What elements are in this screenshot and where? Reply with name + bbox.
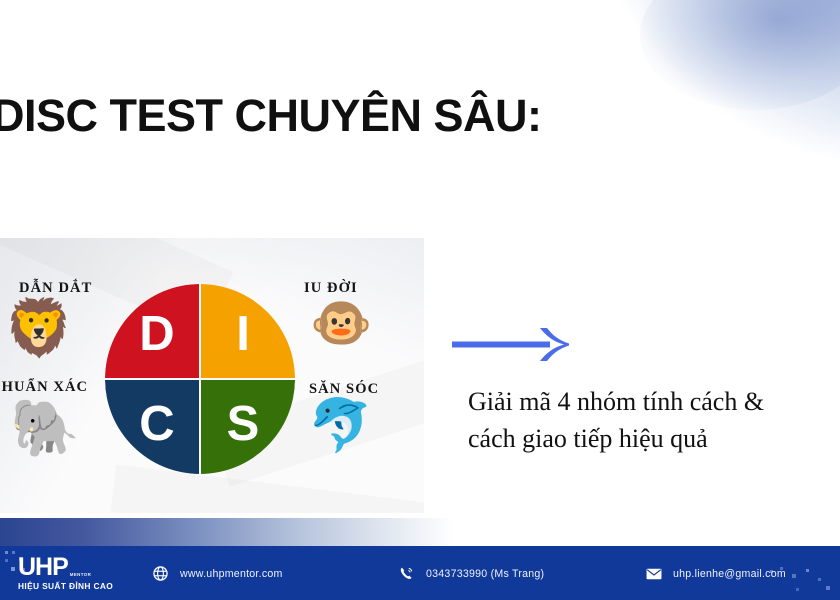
panel-texture-streak — [110, 464, 424, 513]
disc-label-chuan-xac: CHUẨN XÁC — [0, 379, 88, 396]
disc-letter-i: I — [236, 310, 250, 359]
disc-letter-d: D — [139, 310, 174, 359]
disc-quadrant-c: C — [105, 380, 199, 474]
dolphin-icon: 🐬 — [308, 400, 373, 452]
disc-quadrant-d: D — [105, 284, 199, 378]
monkey-icon: 🐵 — [310, 298, 372, 348]
disc-image-panel: D I C S DẪN DẮT CHUẨN XÁC IU ĐỜI SĂN SÓC… — [0, 238, 424, 513]
page-title: DISC TEST CHUYÊN SÂU: — [0, 92, 752, 139]
mail-icon — [645, 565, 662, 582]
right-arrow-icon — [452, 326, 572, 364]
disc-quadrant-s: S — [201, 380, 295, 474]
decor-blob-top-right — [540, 0, 840, 180]
globe-icon — [152, 565, 169, 582]
decor-gradient-band — [0, 518, 840, 546]
disc-wheel: D I C S — [105, 284, 295, 474]
uhp-logo-text: UHP — [18, 555, 68, 580]
footer-email[interactable]: uhp.lienhe@gmail.com — [645, 565, 786, 582]
disc-letter-s: S — [227, 400, 260, 449]
body-text: Giải mã 4 nhóm tính cách & cách giao tiế… — [468, 384, 840, 458]
footer-website[interactable]: www.uhpmentor.com — [152, 565, 283, 582]
footer-website-label: www.uhpmentor.com — [180, 568, 283, 580]
uhp-logo-mark-sub: MENTOR — [70, 573, 91, 580]
uhp-logo[interactable]: UHP MENTOR HIỆU SUẤT ĐỈNH CAO — [18, 555, 118, 591]
footer-bar: UHP MENTOR HIỆU SUẤT ĐỈNH CAO www.uhpmen… — [0, 546, 840, 600]
elephant-icon: 🐘 — [10, 400, 80, 456]
footer-email-label: uhp.lienhe@gmail.com — [673, 568, 786, 580]
disc-quadrant-i: I — [201, 284, 295, 378]
disc-label-dan-dat: DẪN DẮT — [19, 280, 92, 297]
lion-icon: 🦁 — [4, 300, 74, 356]
disc-label-san-soc: SĂN SÓC — [309, 381, 379, 398]
slide-canvas: DISC TEST CHUYÊN SÂU: D I C S DẪN DẮT CH… — [0, 0, 840, 600]
footer-phone[interactable]: 0343733990 (Ms Trang) — [398, 565, 544, 582]
footer-phone-label: 0343733990 (Ms Trang) — [426, 568, 544, 580]
disc-letter-c: C — [139, 400, 174, 449]
uhp-logo-tagline: HIỆU SUẤT ĐỈNH CAO — [18, 581, 118, 591]
phone-icon — [398, 565, 415, 582]
uhp-logo-mark: UHP MENTOR — [18, 555, 118, 580]
